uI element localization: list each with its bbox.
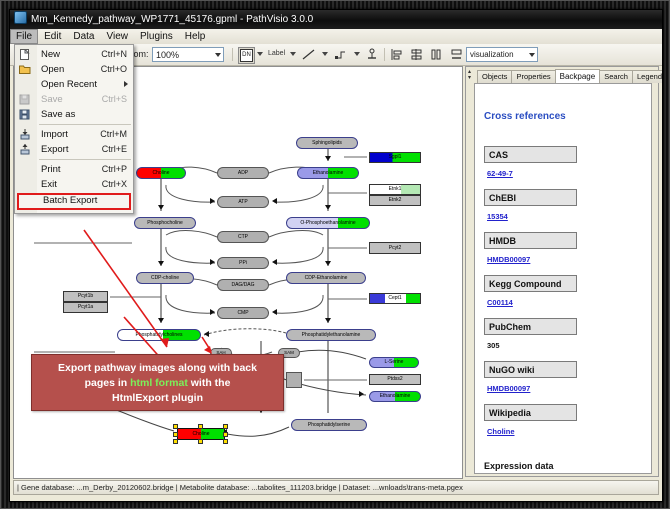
metabolite-node-choline-selected[interactable]: Choline	[177, 428, 225, 440]
arrowhead-right	[210, 259, 215, 265]
metabolite-node-cdp-ethanolamine[interactable]: CDP-Ethanolamine	[286, 272, 366, 284]
arrowhead-down	[158, 205, 164, 210]
desktop-backdrop: Mm_Kennedy_pathway_WP1771_45176.gpml - P…	[0, 0, 670, 509]
same-size-tool-icon[interactable]	[450, 48, 463, 61]
xref-value-wikipedia[interactable]: Choline	[487, 427, 515, 436]
side-panel: ▴▾ ObjectsPropertiesBackpageSearchLegend…	[465, 66, 659, 477]
selection-handle-sw[interactable]	[173, 439, 178, 444]
arrowhead-down	[325, 156, 331, 161]
xref-value-nugo[interactable]: HMDB00097	[487, 384, 530, 393]
menu-item-import-label: Import	[41, 129, 68, 140]
selection-handle-nw[interactable]	[173, 424, 178, 429]
callout-line-2b: with the	[188, 377, 231, 389]
cofactor-node-dag[interactable]: DAG/DAG	[217, 279, 269, 291]
arrowhead-left	[272, 198, 277, 204]
side-panel-tabs: ObjectsPropertiesBackpageSearchLegend	[466, 69, 660, 83]
line-tool-icon[interactable]	[302, 48, 316, 61]
selection-handle-w[interactable]	[173, 432, 178, 437]
menu-item-open[interactable]: Open Ctrl+O	[15, 62, 133, 77]
annotation-callout: Export pathway images along with back pa…	[31, 354, 284, 411]
xref-db-cas: CAS	[484, 146, 577, 163]
arrowhead-right	[210, 198, 215, 204]
cofactor-node-cmp[interactable]: CMP	[217, 307, 269, 319]
menu-item-import-accel: Ctrl+M	[100, 127, 127, 142]
tab-scroll-icon[interactable]: ▴▾	[468, 69, 475, 81]
menu-item-open-accel: Ctrl+O	[101, 62, 127, 77]
tab-properties[interactable]: Properties	[511, 70, 555, 83]
xref-db-pubchem: PubChem	[484, 318, 577, 335]
tab-search[interactable]: Search	[599, 70, 633, 83]
stack-tool-icon[interactable]	[430, 48, 443, 61]
selection-handle-n[interactable]	[198, 424, 203, 429]
gene-node-ptdss2[interactable]: Ptdss2	[369, 374, 421, 385]
arrowhead-left	[272, 309, 277, 315]
menu-separator-2	[39, 159, 131, 160]
file-dropdown-menu[interactable]: New Ctrl+N Open Ctrl+O Open Recent Sa	[14, 44, 134, 214]
group-tool-icon[interactable]	[470, 48, 483, 61]
visualization-value: visualization	[470, 50, 514, 59]
visualization-combobox[interactable]: visualization	[466, 47, 538, 62]
save-disk-icon	[19, 94, 31, 105]
open-folder-icon	[19, 64, 31, 75]
chevron-down-icon-2	[529, 53, 535, 57]
toolbar-separator	[232, 48, 233, 61]
arrowhead-down	[325, 205, 331, 210]
menu-item-save-as[interactable]: Save as	[15, 107, 133, 122]
arrowhead-left	[204, 331, 209, 337]
gene-node-cept1[interactable]: Cept1	[369, 293, 421, 304]
arrowhead-down	[158, 261, 164, 266]
metabolite-node-o-phosphoethanolamine[interactable]: O-Phosphoethanolamine	[286, 217, 370, 229]
metabolite-node-sphingolipids[interactable]: Sphingolipids	[296, 137, 358, 149]
menu-item-exit[interactable]: Exit Ctrl+X	[15, 177, 133, 192]
menu-edit[interactable]: Edit	[38, 29, 67, 44]
tab-backpage[interactable]: Backpage	[555, 69, 601, 83]
arrowhead-left	[272, 259, 277, 265]
anchor-box[interactable]	[286, 372, 302, 388]
menu-item-import[interactable]: Import Ctrl+M	[15, 127, 133, 142]
metabolite-node-choline[interactable]: Choline	[136, 167, 186, 179]
gene-node-pcyt1b[interactable]: Pcyt1b	[63, 291, 108, 302]
gene-node-sgpl1[interactable]: Sgpl1	[369, 152, 421, 163]
metabolite-node-phosphatidylethanolamine[interactable]: Phosphatidylethanolamine	[286, 329, 376, 341]
selection-handle-se[interactable]	[223, 439, 228, 444]
menu-view[interactable]: View	[100, 29, 134, 44]
label-dropdown-icon[interactable]	[290, 52, 296, 56]
gene-node-etnk1[interactable]: Etnk1	[369, 184, 421, 195]
cofactor-node-adp[interactable]: ADP	[217, 167, 269, 179]
align-center-tool-icon[interactable]	[410, 48, 423, 61]
callout-line-2: pages in html format with the	[32, 376, 283, 391]
gene-node-etnk2[interactable]: Etnk2	[369, 195, 421, 206]
xref-db-chebi: ChEBI	[484, 189, 577, 206]
xref-db-wikipedia: Wikipedia	[484, 404, 577, 421]
anchor-tool-icon[interactable]	[366, 48, 379, 61]
submenu-arrow-icon	[124, 81, 128, 87]
menu-item-new-accel: Ctrl+N	[101, 47, 127, 62]
callout-line-1: Export pathway images along with back	[32, 361, 283, 376]
new-document-icon	[19, 49, 31, 60]
line-dropdown-icon[interactable]	[322, 52, 328, 56]
callout-line-3: HtmlExport plugin	[32, 391, 283, 406]
window-title: Mm_Kennedy_pathway_WP1771_45176.gpml - P…	[31, 14, 313, 25]
toolbar-separator-2	[384, 48, 385, 61]
menu-help[interactable]: Help	[179, 29, 212, 44]
callout-highlight: html format	[130, 377, 188, 389]
menu-data[interactable]: Data	[67, 29, 100, 44]
align-left-tool-icon[interactable]	[390, 48, 403, 61]
cofactor-node-ppi[interactable]: PPi	[217, 257, 269, 269]
menu-item-open-recent[interactable]: Open Recent	[15, 77, 133, 92]
menu-separator-1	[39, 124, 131, 125]
callout-line-2a: pages in	[85, 377, 131, 389]
metabolite-node-phosphatidylserine[interactable]: Phosphatidylserine	[291, 419, 367, 431]
menu-item-export-label: Export	[41, 144, 68, 155]
menu-plugins[interactable]: Plugins	[134, 29, 179, 44]
zoom-value: 100%	[156, 50, 179, 60]
menu-item-print[interactable]: Print Ctrl+P	[15, 162, 133, 177]
export-icon	[19, 144, 31, 155]
menu-item-save[interactable]: Save Ctrl+S	[15, 92, 133, 107]
menu-item-open-label: Open	[41, 64, 64, 75]
cofactor-node-ctp[interactable]: CTP	[217, 231, 269, 243]
xref-value-chebi[interactable]: 15354	[487, 212, 508, 221]
menu-item-print-accel: Ctrl+P	[102, 162, 127, 177]
xref-value-hmdb[interactable]: HMDB00097	[487, 255, 530, 264]
pathvisio-application-window: Mm_Kennedy_pathway_WP1771_45176.gpml - P…	[9, 9, 663, 502]
selection-handle-ne[interactable]	[223, 424, 228, 429]
arrowhead-right	[210, 309, 215, 315]
zoom-combobox[interactable]: 100%	[152, 47, 224, 62]
menu-item-save-label: Save	[41, 94, 63, 105]
interaction-dropdown-icon[interactable]	[354, 52, 360, 56]
menu-item-new-label: New	[41, 49, 60, 60]
xref-value-pubchem: 305	[487, 341, 500, 350]
menu-bar: FileEditDataViewPluginsHelp	[10, 29, 662, 45]
expression-data-heading: Expression data	[484, 461, 554, 471]
arrowhead-down	[325, 318, 331, 323]
menu-item-export-accel: Ctrl+E	[102, 142, 127, 157]
datanode-tool-button[interactable]: DN	[238, 47, 255, 64]
menu-item-batch-export-label: Batch Export	[43, 195, 97, 206]
menu-item-exit-accel: Ctrl+X	[102, 177, 127, 192]
gene-node-pcyt1a[interactable]: Pcyt1a	[63, 302, 108, 313]
cofactor-node-atp[interactable]: ATP	[217, 196, 269, 208]
menu-item-new[interactable]: New Ctrl+N	[15, 47, 133, 62]
menu-item-print-label: Print	[41, 164, 61, 175]
save-as-disk-icon	[19, 109, 31, 120]
xref-db-nugo: NuGO wiki	[484, 361, 577, 378]
arrowhead-right	[359, 391, 364, 397]
xref-value-cas[interactable]: 62-49-7	[487, 169, 513, 178]
interaction-tool-icon[interactable]	[334, 48, 348, 61]
tab-objects[interactable]: Objects	[477, 70, 512, 83]
label-tool-label[interactable]: Label	[268, 50, 285, 57]
chevron-down-icon	[215, 53, 221, 57]
arrowhead-down	[325, 261, 331, 266]
menu-item-save-accel: Ctrl+S	[102, 92, 127, 107]
gene-node-pcyt2[interactable]: Pcyt2	[369, 242, 421, 254]
metabolite-node-ethanolamine-2[interactable]: Ethanolamine	[369, 391, 421, 402]
datanode-icon: DN	[240, 49, 253, 62]
menu-item-save-as-label: Save as	[41, 109, 75, 120]
xref-value-kegg[interactable]: C00114	[487, 298, 513, 307]
metabolite-node-phosphatidylcholines[interactable]: Phosphatidylcholines	[117, 329, 201, 341]
xref-db-kegg: Kegg Compound	[484, 275, 577, 292]
window-title-bar: Mm_Kennedy_pathway_WP1771_45176.gpml - P…	[10, 10, 662, 29]
pathvisio-app-icon	[14, 11, 27, 24]
menu-item-exit-label: Exit	[41, 179, 57, 190]
datanode-dropdown-icon[interactable]	[257, 52, 263, 56]
selection-handle-e[interactable]	[223, 432, 228, 437]
import-icon	[19, 129, 31, 140]
metabolite-node-l-serine[interactable]: L-Serine	[369, 357, 419, 368]
menu-item-open-recent-label: Open Recent	[41, 79, 97, 90]
menu-item-export[interactable]: Export Ctrl+E	[15, 142, 133, 157]
metabolite-node-ethanolamine[interactable]: Ethanolamine	[297, 167, 359, 179]
selection-handle-s[interactable]	[198, 439, 203, 444]
menu-file[interactable]: File	[10, 29, 38, 44]
metabolite-node-phosphocholine[interactable]: Phosphocholine	[134, 217, 196, 229]
menu-item-batch-export[interactable]: Batch Export	[17, 193, 131, 210]
backpage-content: Cross references CAS 62-49-7 ChEBI 15354…	[474, 83, 652, 474]
metabolite-node-cdp-choline[interactable]: CDP-choline	[136, 272, 194, 284]
xref-db-hmdb: HMDB	[484, 232, 577, 249]
arrowhead-down	[158, 318, 164, 323]
status-bar: | Gene database: ...m_Derby_20120602.bri…	[13, 480, 659, 495]
tab-legend[interactable]: Legend	[632, 70, 663, 83]
cross-references-heading: Cross references	[484, 111, 566, 122]
arrowhead-left	[222, 429, 227, 435]
